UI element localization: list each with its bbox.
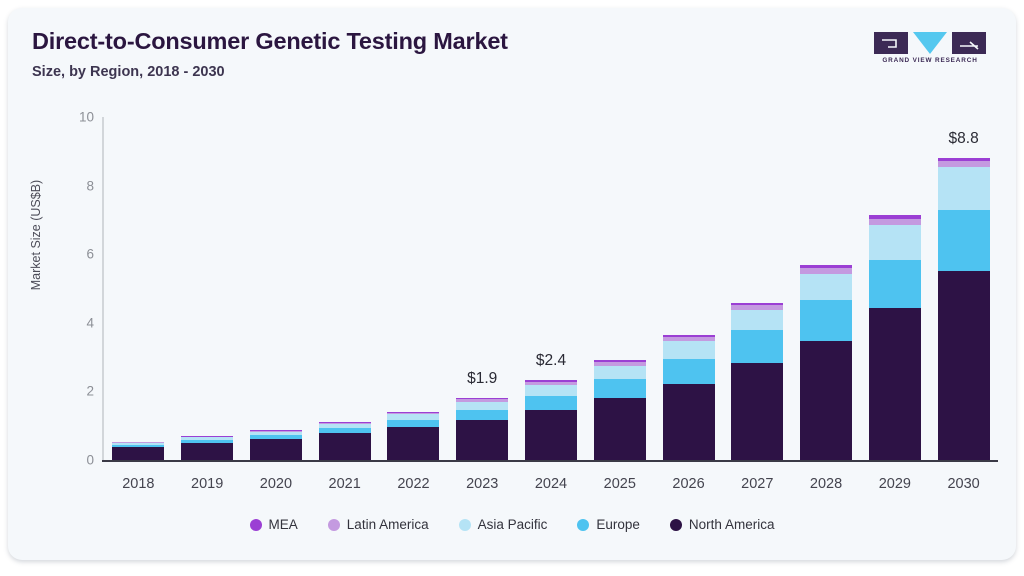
bar-segment-north-america[interactable] [869,308,921,460]
legend-item-mea[interactable]: MEA [250,517,298,532]
bar-segment-north-america[interactable] [112,447,164,460]
bar-stack[interactable] [731,117,783,460]
bar-segment-europe[interactable] [525,396,577,410]
bar-stack[interactable] [112,117,164,460]
bar-segment-north-america[interactable] [319,433,371,460]
bar-segment-europe[interactable] [800,300,852,340]
x-tick-label: 2020 [260,476,292,492]
bar-segment-north-america[interactable] [731,363,783,460]
legend-swatch-icon [577,519,589,531]
x-tick-label: 2028 [810,476,842,492]
legend-label: Latin America [347,517,429,532]
chart-legend: MEALatin AmericaAsia PacificEuropeNorth … [8,517,1016,532]
x-tick-label: 2018 [122,476,154,492]
bar-segment-europe[interactable] [938,210,990,272]
bar-segment-asia-pacific[interactable] [869,225,921,259]
data-label: $8.8 [949,130,979,148]
legend-label: Asia Pacific [478,517,548,532]
bar-segment-latin-america[interactable] [869,219,921,226]
bar-segment-asia-pacific[interactable] [663,341,715,359]
bar-stack[interactable] [594,117,646,460]
legend-swatch-icon [670,519,682,531]
y-tick-label: 10 [22,110,94,125]
bar-stack[interactable] [387,117,439,460]
x-axis-line [102,460,998,462]
x-tick-label: 2026 [672,476,704,492]
chart-card: Direct-to-Consumer Genetic Testing Marke… [8,8,1016,560]
screenshot-root: Direct-to-Consumer Genetic Testing Marke… [0,0,1024,576]
bar-segment-europe[interactable] [731,330,783,363]
chart-plot-area: Market Size (US$B) 0246810 2018201920202… [8,8,1016,560]
legend-label: Europe [596,517,640,532]
y-tick-label: 2 [22,384,94,399]
y-tick-label: 6 [22,247,94,262]
x-tick-label: 2019 [191,476,223,492]
bar-segment-north-america[interactable] [938,271,990,460]
x-tick-label: 2030 [947,476,979,492]
legend-swatch-icon [250,519,262,531]
data-label: $2.4 [536,352,566,370]
y-tick-label: 0 [22,453,94,468]
bar-segment-europe[interactable] [456,410,508,420]
bar-segment-asia-pacific[interactable] [456,402,508,410]
bar-stack[interactable] [181,117,233,460]
x-tick-label: 2022 [397,476,429,492]
legend-item-latin-america[interactable]: Latin America [328,517,429,532]
bar-segment-north-america[interactable] [181,443,233,460]
y-axis-ticks: 0246810 [8,8,94,560]
x-tick-label: 2021 [329,476,361,492]
bar-segment-north-america[interactable] [663,384,715,460]
x-tick-label: 2025 [604,476,636,492]
x-tick-label: 2024 [535,476,567,492]
y-tick-label: 8 [22,178,94,193]
bar-stack[interactable] [456,117,508,460]
bar-segment-north-america[interactable] [387,427,439,460]
bar-stack[interactable] [869,117,921,460]
bar-segment-asia-pacific[interactable] [525,385,577,396]
x-tick-label: 2027 [741,476,773,492]
bar-stack[interactable] [938,117,990,460]
x-tick-label: 2029 [879,476,911,492]
bar-segment-asia-pacific[interactable] [800,274,852,300]
data-label: $1.9 [467,370,497,388]
x-tick-label: 2023 [466,476,498,492]
bar-segment-europe[interactable] [869,260,921,309]
y-tick-label: 4 [22,315,94,330]
bar-stack[interactable] [525,117,577,460]
bar-stack[interactable] [319,117,371,460]
bar-segment-north-america[interactable] [525,410,577,460]
bar-segment-europe[interactable] [387,420,439,427]
bar-segment-north-america[interactable] [594,398,646,460]
bar-segment-north-america[interactable] [800,341,852,460]
bar-segment-asia-pacific[interactable] [594,366,646,380]
bar-segment-north-america[interactable] [250,439,302,460]
bar-segment-asia-pacific[interactable] [731,310,783,331]
bar-stack[interactable] [800,117,852,460]
legend-swatch-icon [459,519,471,531]
bar-stack[interactable] [250,117,302,460]
legend-item-asia-pacific[interactable]: Asia Pacific [459,517,548,532]
bar-stack[interactable] [663,117,715,460]
y-axis-line [102,117,104,461]
bar-segment-north-america[interactable] [456,420,508,460]
legend-label: North America [689,517,775,532]
legend-label: MEA [269,517,298,532]
legend-swatch-icon [328,519,340,531]
bar-segment-asia-pacific[interactable] [938,167,990,210]
bar-segment-europe[interactable] [594,379,646,398]
legend-item-europe[interactable]: Europe [577,517,640,532]
bar-segment-europe[interactable] [663,359,715,384]
legend-item-north-america[interactable]: North America [670,517,775,532]
